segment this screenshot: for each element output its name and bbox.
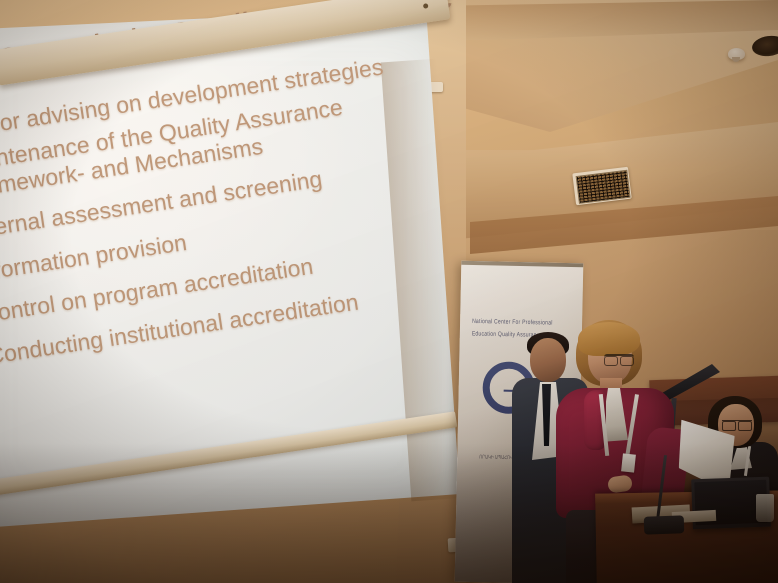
photograph-scene: Our role in Quality Assurance Senior adv… <box>0 0 778 583</box>
vent-grille-icon <box>576 170 631 204</box>
eyeglasses-icon <box>604 354 634 364</box>
name-badge <box>621 453 636 472</box>
hvac-vent <box>572 167 631 206</box>
eyeglasses-icon <box>722 420 752 429</box>
slide-bullet-list: Senior advising on development strategie… <box>0 42 496 384</box>
smoke-detector-icon <box>728 48 745 60</box>
drinking-glass <box>756 494 774 522</box>
speaker-hair-front <box>578 322 640 356</box>
desk-microphone <box>644 515 685 534</box>
